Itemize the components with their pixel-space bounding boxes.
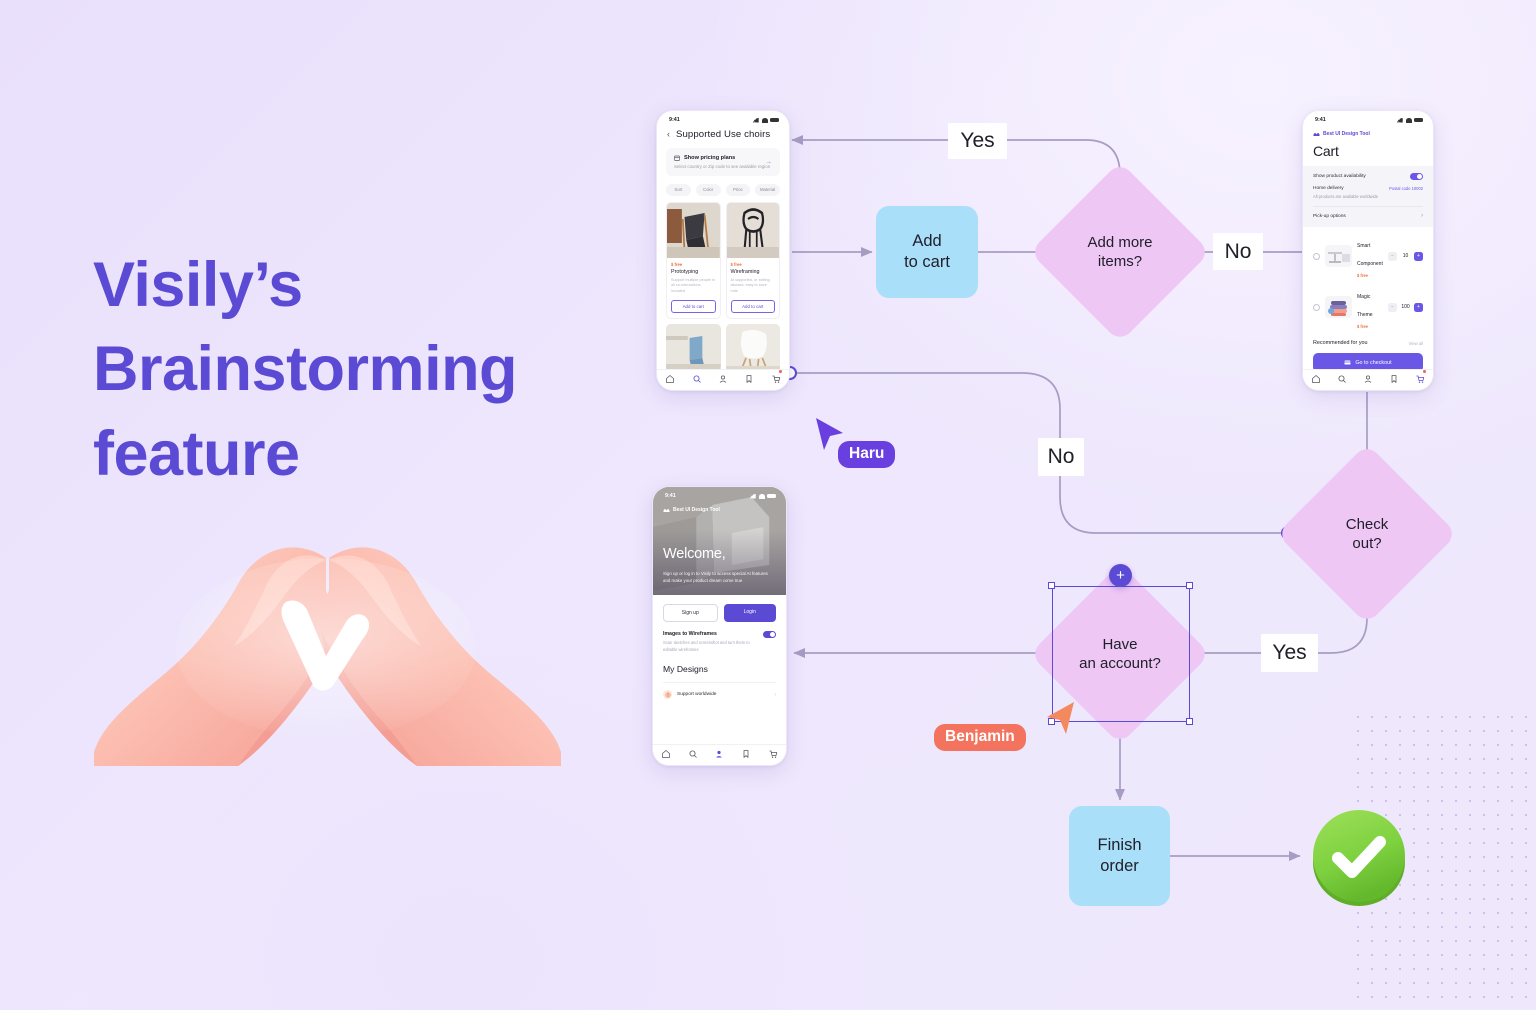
tab-home[interactable] (665, 371, 675, 389)
my-designs-title: My Designs (653, 653, 786, 674)
brand-name: Best UI Design Tool (673, 507, 720, 513)
product-image (667, 203, 720, 258)
tab-cart[interactable] (768, 746, 778, 764)
item-radio[interactable] (1313, 304, 1320, 311)
account-line2: an account? (1079, 654, 1161, 674)
pickup-label: Pick-up options (1313, 214, 1346, 219)
edge-label-yes-top: Yes (948, 123, 1007, 159)
add-to-cart-button[interactable]: Add to cart (731, 300, 776, 313)
item-thumbnail (1325, 245, 1352, 267)
bottom-tab-bar (1303, 369, 1433, 390)
brand-row: Best UI Design Tool (1303, 125, 1433, 137)
availability-label: Show product availability (1313, 174, 1366, 179)
quantity-stepper[interactable]: − 10 + (1388, 252, 1423, 261)
pickup-options-row[interactable]: Pick-up options › (1313, 213, 1423, 219)
divider (1313, 206, 1423, 207)
feature-subtitle: Scan sketches and screenshot and turn th… (663, 640, 757, 653)
brand-logo-icon (1313, 130, 1320, 137)
welcome-title: Welcome, (663, 546, 726, 562)
cart-item-row[interactable]: Magic Theme $ free − 100 + (1303, 278, 1433, 329)
page-title: Visily’s Brainstorming feature (93, 243, 613, 496)
product-card-list: $ free Prototyping Support multiple peop… (657, 200, 789, 319)
status-time: 9:41 (669, 117, 680, 123)
qty-minus-button[interactable]: − (1388, 303, 1397, 312)
product-price: $ free (731, 262, 776, 267)
account-line1: Have (1079, 635, 1161, 655)
welcome-subtitle: Sign up or log in to Visily to access sp… (663, 570, 776, 584)
qty-plus-button[interactable]: + (1414, 252, 1423, 261)
auth-buttons: Sign up Login (653, 595, 786, 622)
availability-toggle[interactable] (1410, 173, 1423, 180)
welcome-hero: 9:41 Best UI Design Tool W (653, 487, 786, 595)
product-price: $ free (671, 262, 716, 267)
feature-title: Images to Wireframes (663, 631, 757, 637)
product-card[interactable] (726, 324, 781, 372)
tab-profile[interactable] (718, 371, 728, 389)
check-out-line1: Check (1346, 515, 1389, 535)
banner-subtitle: Select country or Zip code to see availa… (674, 164, 772, 169)
tab-bookmark[interactable] (741, 746, 751, 764)
tab-cart[interactable] (771, 371, 781, 389)
design-list-item[interactable]: Support worldwide › (663, 682, 776, 699)
add-to-cart-button[interactable]: Add to cart (671, 300, 716, 313)
brand-logo-icon (663, 506, 670, 513)
canvas: Visily’s Brainstorming feature (0, 0, 1536, 1010)
recommended-row: Recommended for you View all (1303, 329, 1433, 346)
calendar-icon (674, 155, 680, 161)
status-time: 9:41 (665, 493, 676, 499)
phone-mockup-catalog[interactable]: 9:41 ‹ Supported Use choirs Show pricing… (656, 110, 790, 391)
product-card[interactable]: $ free Prototyping Support multiple peop… (666, 202, 721, 319)
nav-bar: ‹ Supported Use choirs (657, 125, 789, 146)
headline-line-3: feature (93, 412, 613, 496)
status-bar: 9:41 (1303, 111, 1433, 125)
bottom-tab-bar (657, 369, 789, 390)
back-icon[interactable]: ‹ (667, 130, 670, 139)
item-thumbnail (1325, 296, 1352, 318)
tab-cart[interactable] (1415, 371, 1425, 389)
pricing-banner[interactable]: Show pricing plans Select country or Zip… (666, 148, 780, 176)
bottom-tab-bar (653, 744, 786, 765)
chip-price[interactable]: Price (726, 184, 751, 196)
delivery-label: Home delivery (1313, 186, 1344, 191)
signal-icon (1397, 118, 1403, 123)
resize-handle-tl[interactable] (1048, 582, 1055, 589)
chip-material[interactable]: Material (755, 184, 780, 196)
phone-mockup-cart[interactable]: 9:41 Best UI Design Tool Cart Show produ… (1302, 110, 1434, 391)
status-time: 9:41 (1315, 117, 1326, 123)
status-icons (753, 118, 779, 123)
item-price: $ free (1357, 273, 1383, 278)
status-bar: 9:41 (653, 487, 786, 501)
wifi-icon (759, 494, 765, 499)
tab-profile[interactable] (714, 746, 724, 764)
success-check-badge (1307, 804, 1411, 908)
tab-home[interactable] (1311, 371, 1321, 389)
resize-handle-tr[interactable] (1186, 582, 1193, 589)
finish-order-line2: order (1097, 856, 1141, 877)
tab-profile[interactable] (1363, 371, 1373, 389)
add-to-cart-line2: to cart (904, 252, 950, 273)
tab-search[interactable] (692, 371, 702, 389)
phone-mockup-welcome[interactable]: 9:41 Best UI Design Tool W (652, 486, 787, 766)
qty-value: 10 (1400, 253, 1411, 259)
filter-chips: Sort Color Price Material (657, 176, 789, 200)
qty-plus-button[interactable]: + (1414, 303, 1423, 312)
arrow-right-icon[interactable]: → (765, 158, 772, 165)
tab-bookmark[interactable] (744, 371, 754, 389)
cart-badge (779, 370, 782, 373)
edge-label-no-right: No (1213, 233, 1263, 270)
battery-icon (1414, 118, 1423, 123)
add-to-cart-line1: Add (904, 231, 950, 252)
battery-icon (767, 494, 776, 499)
globe-icon (663, 690, 672, 699)
view-all-link[interactable]: View all (1409, 341, 1423, 346)
cursor-label-haru: Haru (838, 441, 895, 468)
postal-code-link[interactable]: Postal code 10002 (1389, 186, 1423, 191)
design-item-label: Support worldwide (677, 692, 769, 697)
quantity-stepper[interactable]: − 100 + (1388, 303, 1423, 312)
delivery-subtitle: All products are available worldwide (1313, 194, 1423, 199)
finish-order-line1: Finish (1097, 835, 1141, 856)
checkout-label: Go to checkout (1355, 360, 1391, 366)
resize-handle-br[interactable] (1186, 718, 1193, 725)
product-card[interactable]: $ free Wireframing AI supported, or edit… (726, 202, 781, 319)
qty-minus-button[interactable]: − (1388, 252, 1397, 261)
cart-options-block: Show product availability Home delivery … (1303, 166, 1433, 227)
product-title: Prototyping (671, 269, 716, 275)
banner-title: Show pricing plans (684, 155, 735, 161)
signal-icon (750, 494, 756, 499)
chip-color[interactable]: Color (696, 184, 721, 196)
headline-line-1: Visily’s (93, 243, 613, 327)
product-description: Support multiple people in all co-intera… (671, 278, 716, 295)
recommended-label: Recommended for you (1313, 340, 1368, 346)
login-button[interactable]: Login (724, 604, 777, 622)
tab-search[interactable] (1337, 371, 1347, 389)
product-image (727, 203, 780, 258)
product-card-list-secondary (657, 319, 789, 372)
cart-badge (1423, 370, 1426, 373)
flow-node-check-out[interactable]: Check out? (1303, 470, 1431, 598)
cursor-label-benjamin: Benjamin (934, 724, 1026, 751)
heart-hands-illustration (88, 498, 563, 766)
item-price: $ free (1357, 324, 1383, 329)
item-name: Magic Theme (1357, 294, 1373, 318)
signal-icon (753, 118, 759, 123)
wifi-icon (1406, 118, 1412, 123)
brand-name: Best UI Design Tool (1323, 131, 1370, 137)
brand-row: Best UI Design Tool (663, 506, 720, 513)
nav-title: Supported Use choirs (676, 129, 770, 140)
cart-title: Cart (1303, 137, 1433, 166)
status-bar: 9:41 (657, 111, 789, 125)
flow-node-finish-order[interactable]: Finish order (1069, 806, 1170, 906)
battery-icon (770, 118, 779, 123)
edge-label-no-mid: No (1038, 438, 1084, 476)
cursor-benjamin (1044, 700, 1078, 738)
tab-home[interactable] (661, 746, 671, 764)
item-name: Smart Component (1357, 243, 1383, 267)
feature-row: Images to Wireframes Scan sketches and s… (653, 622, 786, 653)
check-out-line2: out? (1346, 534, 1389, 554)
flow-node-add-to-cart[interactable]: Add to cart (876, 206, 978, 298)
tab-bookmark[interactable] (1389, 371, 1399, 389)
product-card[interactable] (666, 324, 721, 372)
feature-toggle[interactable] (763, 631, 776, 638)
chevron-right-icon: › (774, 692, 776, 698)
flow-node-add-more-items[interactable]: Add more items? (1056, 188, 1184, 316)
add-node-button[interactable]: + (1109, 564, 1132, 587)
status-icons (750, 494, 776, 499)
chevron-right-icon: › (1421, 213, 1423, 219)
qty-value: 100 (1400, 304, 1411, 310)
card-icon (1344, 359, 1351, 366)
product-title: Wireframing (731, 269, 776, 275)
headline-line-2: Brainstorming (93, 327, 613, 411)
tab-search[interactable] (688, 746, 698, 764)
cart-item-row[interactable]: Smart Component $ free − 10 + (1303, 227, 1433, 278)
chip-sort[interactable]: Sort (666, 184, 691, 196)
sign-up-button[interactable]: Sign up (663, 604, 718, 622)
item-radio[interactable] (1313, 253, 1320, 260)
status-icons (1397, 118, 1423, 123)
add-more-line2: items? (1087, 252, 1152, 272)
product-description: AI supported, or editing allowed, easy t… (731, 278, 776, 295)
edge-label-yes-bottom: Yes (1261, 634, 1318, 672)
add-more-line1: Add more (1087, 233, 1152, 253)
wifi-icon (762, 118, 768, 123)
